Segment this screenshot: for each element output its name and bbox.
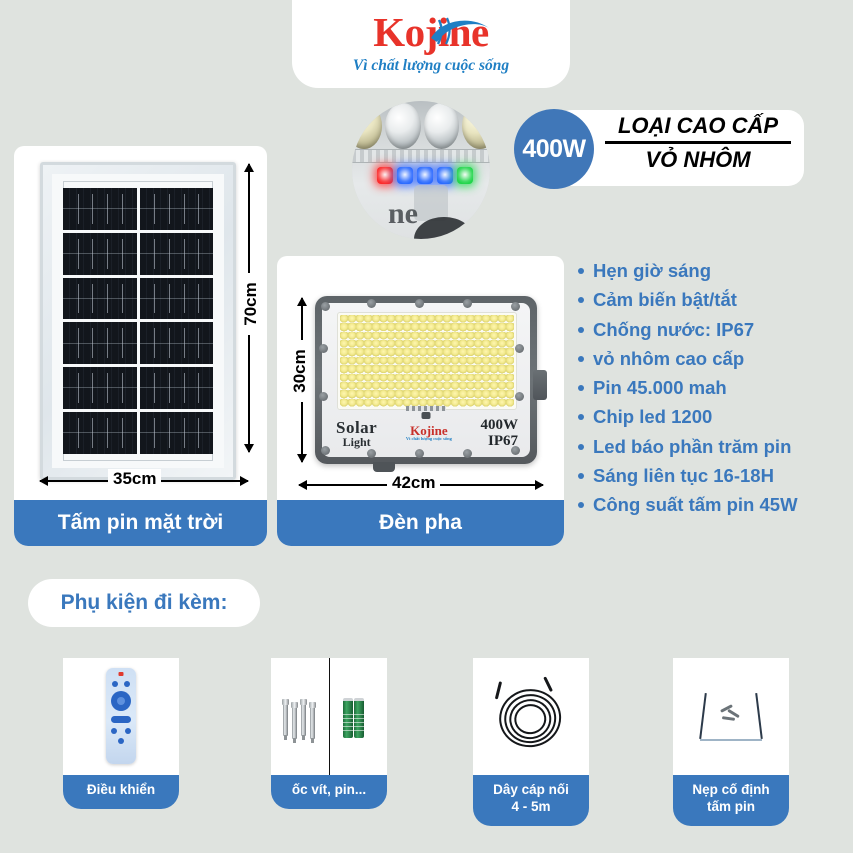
bullet-icon (578, 327, 584, 333)
accessory-caption-line-1: Điều khiển (65, 782, 177, 799)
housing-screw (463, 299, 472, 308)
expansion-bolt-icon (292, 705, 297, 739)
solar-cell (63, 278, 137, 320)
banner-divider (605, 141, 791, 144)
lens-dome-icon (462, 103, 490, 149)
product-card-solar-panel: 70cm 35cm Tấm pin mặt trời (14, 146, 267, 546)
brand-logo-panel: Kojine Vì chất lượng cuộc sống (292, 0, 570, 88)
feature-item: Công suất tấm pin 45W (578, 492, 846, 518)
indicator-led-icon (417, 167, 433, 184)
housing-screw (319, 344, 328, 353)
housing-screw (463, 449, 472, 458)
battery-icon (343, 698, 353, 738)
feature-label: Led báo phần trăm pin (593, 434, 791, 460)
housing-screw (321, 302, 330, 311)
bracket-knob (533, 370, 547, 400)
housing-screw (515, 344, 524, 353)
solar-cell (140, 233, 214, 275)
accessory-image (473, 658, 589, 775)
solar-cell (140, 322, 214, 364)
accessory-caption-line-2: 4 - 5m (475, 799, 587, 816)
bullet-icon (578, 473, 584, 479)
cable-coil-icon (490, 672, 572, 761)
feature-label: vỏ nhôm cao cấp (593, 346, 744, 372)
power-badge: 400W (514, 109, 594, 189)
bullet-icon (578, 356, 584, 362)
feature-list: Hẹn giờ sángCảm biến bật/tắtChống nước: … (578, 258, 846, 521)
bullet-icon (578, 385, 584, 391)
feature-label: Công suất tấm pin 45W (593, 492, 798, 518)
housing-screw (511, 302, 520, 311)
solar-cell (140, 367, 214, 409)
expansion-bolt-icon (310, 705, 315, 739)
feature-item: Cảm biến bật/tắt (578, 287, 846, 313)
accessory-caption: Nẹp cố địnhtấm pin (673, 775, 789, 826)
screws-batteries-icon (271, 658, 387, 775)
battery-indicator-leds (377, 167, 473, 184)
width-label: 35cm (108, 469, 161, 489)
expansion-bolt-icon (283, 702, 288, 736)
lens-row (352, 103, 490, 149)
feature-label: Sáng liên tục 16-18H (593, 463, 774, 489)
indicator-led-icon (457, 167, 473, 184)
cable-gland (373, 462, 395, 472)
housing-screw (515, 392, 524, 401)
housing-screws (315, 296, 537, 464)
feature-label: Chip led 1200 (593, 404, 712, 430)
feature-label: Hẹn giờ sáng (593, 258, 711, 284)
solar-cell (63, 367, 137, 409)
solar-cell (63, 188, 137, 230)
brand-name-text: Kojine (373, 9, 488, 55)
housing-brand-text: ne (388, 197, 418, 231)
bullet-icon (578, 444, 584, 450)
accessory-card[interactable]: ốc vít, pin... (271, 658, 387, 809)
solar-cell (63, 412, 137, 454)
indicator-led-icon (397, 167, 413, 184)
brand-logo-wordmark: Kojine (373, 12, 488, 53)
bullet-icon (578, 268, 584, 274)
product-infographic: Kojine Vì chất lượng cuộc sống (0, 0, 853, 853)
accessory-caption-line-1: Nẹp cố định (675, 782, 787, 799)
lens-dome-icon (424, 103, 460, 149)
lens-dome-icon (352, 103, 382, 149)
height-label: 30cm (290, 340, 310, 402)
accessory-card[interactable]: Điều khiển (63, 658, 179, 809)
housing-screw (511, 446, 520, 455)
solar-panel-image (40, 162, 236, 480)
solar-cell-grid (63, 188, 213, 454)
panel-bottom-frame (63, 454, 213, 461)
product-card-floodlight: Solar Light Kojine Vì chất lượng cuộc số… (277, 256, 564, 546)
housing-screw (367, 299, 376, 308)
accessory-card[interactable]: Dây cáp nối4 - 5m (473, 658, 589, 826)
product-caption: Đèn pha (277, 500, 564, 546)
accessory-card[interactable]: Nẹp cố địnhtấm pin (673, 658, 789, 826)
bullet-icon (578, 502, 584, 508)
housing-screw (415, 449, 424, 458)
accessory-image (63, 658, 179, 775)
solar-cell (63, 233, 137, 275)
height-label: 70cm (241, 273, 261, 335)
light-sensor (414, 185, 448, 221)
feature-item: Chống nước: IP67 (578, 317, 846, 343)
led-closeup-photo: ne (352, 101, 490, 239)
indicator-led-icon (437, 167, 453, 184)
lens-dome-icon (385, 103, 421, 149)
remote-control-icon (106, 668, 136, 764)
accessory-caption: Dây cáp nối4 - 5m (473, 775, 589, 826)
housing-ridge (352, 149, 490, 163)
solar-cell (63, 322, 137, 364)
battery-icon (354, 698, 364, 738)
feature-item: Hẹn giờ sáng (578, 258, 846, 284)
solar-cell (140, 412, 214, 454)
feature-label: Cảm biến bật/tắt (593, 287, 737, 313)
floodlight-image: Solar Light Kojine Vì chất lượng cuộc số… (315, 296, 537, 464)
premium-line-2: VỎ NHÔM (645, 146, 750, 174)
premium-line-1: LOẠI CAO CẤP (618, 112, 778, 140)
accessories-row: Điều khiểnốc vít, pin...Dây cáp nối4 - 5… (0, 658, 853, 848)
accessory-image (271, 658, 387, 775)
indicator-led-icon (377, 167, 393, 184)
feature-label: Chống nước: IP67 (593, 317, 754, 343)
product-caption: Tấm pin mặt trời (14, 500, 267, 546)
feature-item: Pin 45.000 mah (578, 375, 846, 401)
bullet-icon (578, 414, 584, 420)
premium-banner-text: LOẠI CAO CẤP VỎ NHÔM (600, 112, 796, 173)
housing-screw (319, 392, 328, 401)
expansion-bolt-icon (301, 702, 306, 736)
feature-label: Pin 45.000 mah (593, 375, 727, 401)
led-closeup-background: ne (352, 101, 490, 239)
width-label: 42cm (387, 473, 440, 493)
feature-item: Chip led 1200 (578, 404, 846, 430)
solar-cell (140, 278, 214, 320)
feature-item: vỏ nhôm cao cấp (578, 346, 846, 372)
bullet-icon (578, 297, 584, 303)
housing-screw (367, 449, 376, 458)
accessory-caption-line-2: tấm pin (675, 799, 787, 816)
accessory-caption: Điều khiển (63, 775, 179, 809)
accessory-caption-line-1: ốc vít, pin... (273, 782, 385, 799)
accessory-caption: ốc vít, pin... (271, 775, 387, 809)
housing-screw (321, 446, 330, 455)
panel-top-frame (63, 181, 213, 188)
housing-screw (415, 299, 424, 308)
accessories-title: Phụ kiện đi kèm: (28, 579, 260, 627)
accessory-image (673, 658, 789, 775)
solar-cell (140, 188, 214, 230)
feature-item: Sáng liên tục 16-18H (578, 463, 846, 489)
panel-glass (52, 174, 224, 468)
brand-tagline: Vì chất lượng cuộc sống (353, 57, 509, 75)
feature-item: Led báo phần trăm pin (578, 434, 846, 460)
accessory-caption-line-1: Dây cáp nối (475, 782, 587, 799)
mounting-bracket-icon (694, 693, 768, 741)
